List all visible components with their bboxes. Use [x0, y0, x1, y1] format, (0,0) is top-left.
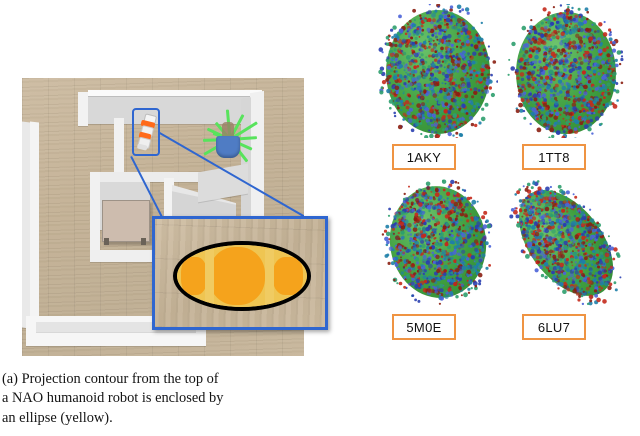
wall-top-edge — [88, 90, 262, 96]
protein-cell-1aky — [378, 4, 498, 138]
robot-highlight-box — [132, 108, 160, 156]
protein-cell-1tt8 — [502, 4, 626, 138]
table-object — [102, 200, 150, 242]
panel-a-robot-projection: (a) Projection contour from the top of a… — [0, 0, 330, 436]
wall-left-outer-cap — [30, 121, 39, 326]
atom-balls-1aky — [378, 4, 498, 138]
protein-label-5m0e: 5M0E — [392, 314, 456, 340]
table-leg-left — [104, 238, 109, 245]
wall-top-left-diag — [78, 92, 88, 126]
wall-partition-vertical — [114, 118, 124, 180]
atom-balls-5m0e — [378, 178, 498, 308]
wall-partition-room-top — [90, 172, 206, 182]
protein-label-6lu7: 6LU7 — [522, 314, 586, 340]
protein-cell-5m0e — [378, 178, 498, 308]
caption-a-line-2: a NAO humanoid robot is enclosed by — [2, 389, 320, 408]
contour-arm-right — [273, 257, 303, 295]
table-leg-right — [141, 238, 146, 245]
caption-a: (a) Projection contour from the top of a… — [2, 370, 320, 428]
projection-contour-yellow — [177, 245, 307, 307]
plant-pot — [216, 136, 240, 158]
contour-gap-right — [265, 249, 274, 305]
panel-b-protein-ellipsoids: 1AKY 1TT8 5M0E 6LU7 (b) Enclosing elli — [330, 0, 640, 436]
protein-label-1tt8: 1TT8 — [522, 144, 586, 170]
wall-partition-room-left — [90, 172, 100, 260]
atom-balls-6lu7 — [502, 178, 626, 308]
projection-contour-inset — [152, 216, 328, 330]
caption-a-line-3: an ellipse (yellow). — [2, 409, 320, 428]
contour-arm-left — [181, 257, 207, 295]
protein-label-1aky: 1AKY — [392, 144, 456, 170]
plant-group — [198, 102, 260, 166]
contour-gap-left — [205, 249, 214, 305]
contour-core-orange — [209, 247, 265, 305]
figure-root: (a) Projection contour from the top of a… — [0, 0, 640, 436]
protein-cell-6lu7 — [502, 178, 626, 308]
atom-balls-1tt8 — [502, 4, 626, 138]
caption-a-line-1: (a) Projection contour from the top of — [2, 370, 320, 389]
